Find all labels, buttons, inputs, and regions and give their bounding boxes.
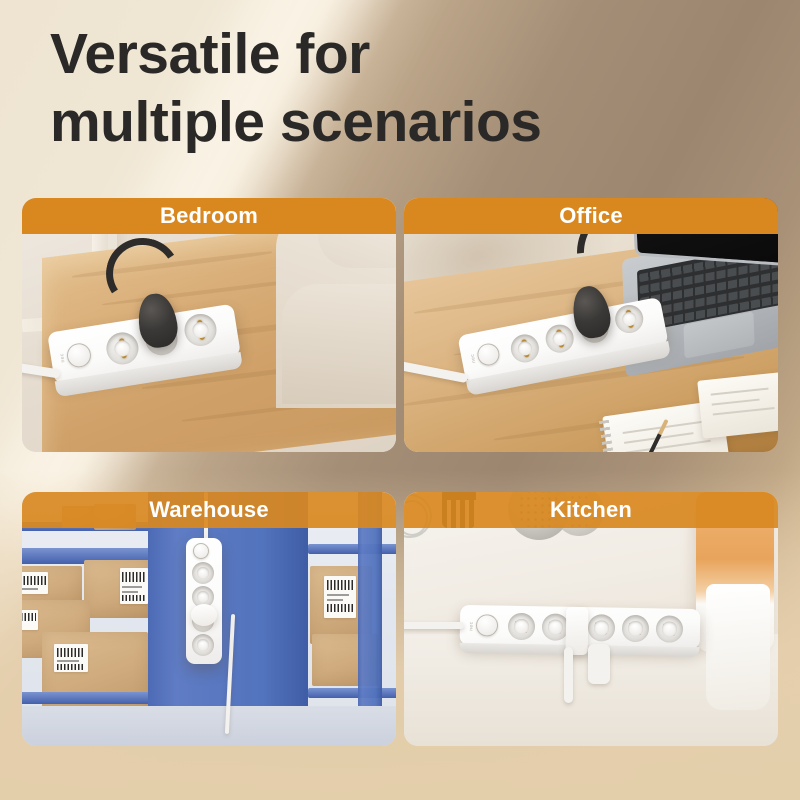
card-header-office: Office	[404, 198, 778, 234]
scenario-card-kitchen: nec	[404, 492, 778, 746]
scenario-card-grid: nec Bedroom	[22, 198, 778, 746]
card-label-office: Office	[559, 203, 623, 229]
card-header-bedroom: Bedroom	[22, 198, 396, 234]
kitchen-photo: nec	[404, 492, 778, 746]
page-title: Versatile for multiple scenarios	[50, 20, 690, 156]
card-label-kitchen: Kitchen	[550, 497, 632, 523]
power-strip-warehouse	[186, 538, 222, 664]
product-feature-page: Versatile for multiple scenarios	[0, 0, 800, 800]
scenario-card-bedroom: nec Bedroom	[22, 198, 396, 452]
card-header-warehouse: Warehouse	[22, 492, 396, 528]
office-photo: nec	[404, 198, 778, 452]
power-strip-kitchen: nec	[460, 605, 701, 649]
page-title-line-1: Versatile for	[50, 22, 370, 86]
card-label-warehouse: Warehouse	[149, 497, 269, 523]
warehouse-photo	[22, 492, 396, 746]
page-title-line-2: multiple scenarios	[50, 88, 690, 156]
card-label-bedroom: Bedroom	[160, 203, 258, 229]
card-header-kitchen: Kitchen	[404, 492, 778, 528]
bedroom-photo: nec	[22, 198, 396, 452]
scenario-card-warehouse: Warehouse	[22, 492, 396, 746]
scenario-card-office: nec	[404, 198, 778, 452]
